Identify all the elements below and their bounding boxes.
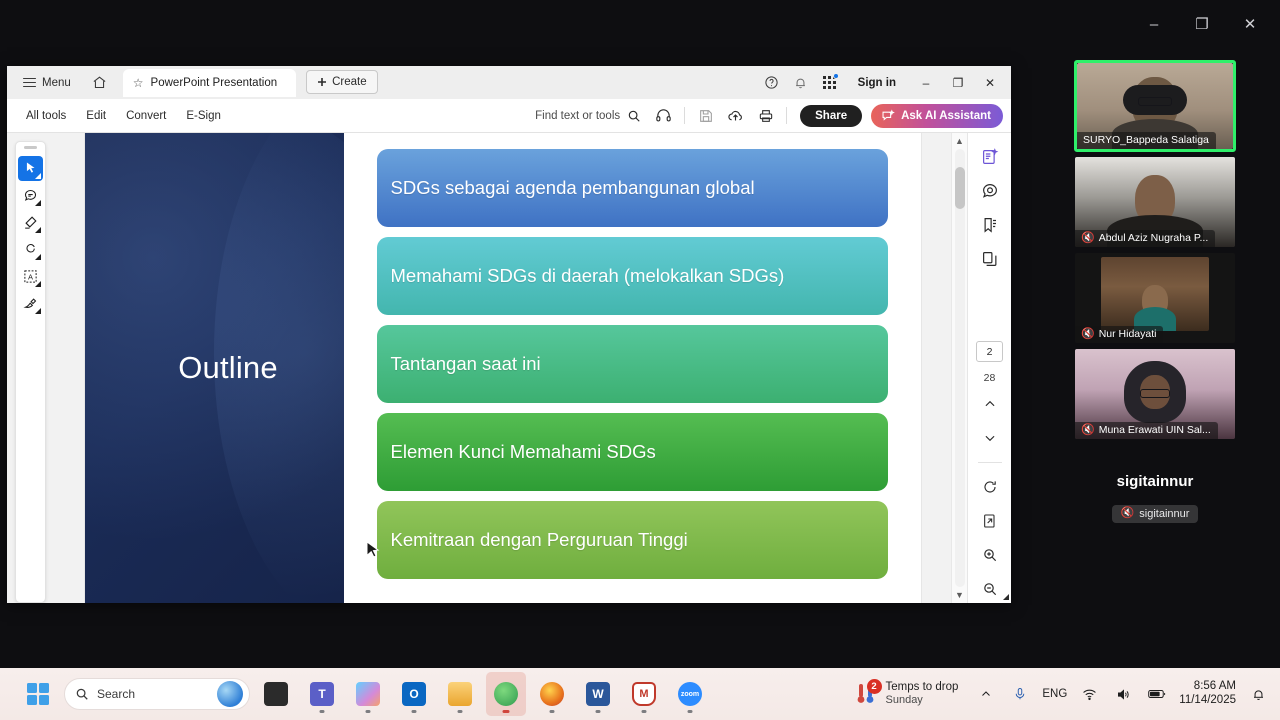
right-tool-rail: 2 28	[967, 133, 1011, 603]
notification-dot	[833, 73, 839, 79]
tab-title: PowerPoint Presentation	[151, 77, 278, 89]
slide-title: Outline	[178, 350, 278, 386]
acrobat-close-button[interactable]: ✕	[975, 66, 1005, 99]
wifi-icon[interactable]	[1077, 687, 1101, 702]
participant-name-chip: SURYO_Bappeda Salatiga	[1077, 132, 1216, 149]
word-icon: W	[586, 682, 610, 706]
firefox-icon	[540, 682, 564, 706]
clock-date: 11/14/2025	[1179, 694, 1236, 708]
participant-tile[interactable]: 🔇 Muna Erawati UIN Sal...	[1075, 349, 1235, 439]
notification-icon[interactable]	[1246, 687, 1270, 702]
participant-tile[interactable]: 🔇 Nur Hidayati	[1075, 253, 1235, 343]
taskbar-app-firefox[interactable]	[532, 672, 572, 716]
outline-item: Elemen Kunci Memahami SDGs	[377, 413, 888, 491]
outline-item-text: Elemen Kunci Memahami SDGs	[391, 440, 656, 464]
create-label: Create	[332, 76, 367, 88]
share-button[interactable]: Share	[800, 105, 862, 127]
page-total-label: 28	[984, 372, 996, 384]
mic-muted-icon: 🔇	[1081, 233, 1095, 244]
acrobat-body: A Outline	[7, 133, 1011, 603]
acrobat-titlebar: Menu ☆ PowerPoint Presentation close-ico…	[7, 66, 1011, 99]
sign-in-button[interactable]: Sign in	[849, 72, 905, 94]
comment-icon[interactable]	[976, 177, 1004, 205]
zoom-close-button[interactable]: ✕	[1228, 8, 1272, 40]
home-icon	[92, 75, 107, 90]
print-icon[interactable]	[752, 102, 779, 129]
read-aloud-icon[interactable]	[650, 102, 677, 129]
running-indicator	[412, 710, 417, 713]
search-icon	[75, 687, 89, 701]
tool-caret-icon	[35, 308, 41, 314]
plus-icon	[317, 77, 327, 87]
notification-badge: 2	[867, 679, 882, 694]
taskbar-app-copilot365[interactable]	[348, 672, 388, 716]
draw-tool[interactable]	[18, 237, 43, 262]
show-hidden-icons-button[interactable]	[974, 688, 998, 700]
participant-name-chip: 🔇 Nur Hidayati	[1075, 326, 1163, 343]
mic-muted-icon: 🔇	[1081, 329, 1095, 340]
search-placeholder: Search	[97, 687, 135, 701]
tab-all-tools[interactable]: All tools	[17, 105, 75, 127]
participant-video: 🔇 Muna Erawati UIN Sal...	[1075, 349, 1235, 439]
taskbar-app-acrobat[interactable]	[486, 672, 526, 716]
outline-item: Tantangan saat ini	[377, 325, 888, 403]
screen: – ❐ ✕ SURYO_Bappeda Salatiga	[0, 0, 1280, 720]
acrobat-window: Menu ☆ PowerPoint Presentation close-ico…	[7, 66, 1011, 603]
windows-start-icon	[23, 679, 54, 710]
participant-name: Abdul Aziz Nugraha P...	[1099, 232, 1209, 244]
system-tray: 2 Temps to drop Sunday ENG	[850, 678, 1271, 710]
caret-icon	[1003, 594, 1009, 600]
copilot-icon[interactable]	[217, 681, 243, 707]
running-indicator	[596, 710, 601, 713]
mic-muted-icon: 🔇	[1121, 508, 1135, 519]
divider	[786, 107, 787, 124]
running-indicator	[550, 710, 555, 713]
search-box[interactable]: Search	[64, 678, 250, 710]
weather-text: Temps to drop Sunday	[886, 681, 959, 707]
mouse-cursor	[366, 541, 380, 561]
self-display-name: sigitainnur	[1030, 473, 1280, 490]
outline-item-text: Memahami SDGs di daerah (melokalkan SDGs…	[391, 264, 785, 288]
select-tool[interactable]	[18, 156, 43, 181]
taskbar-app-maxthon[interactable]: M	[624, 672, 664, 716]
outline-item-text: Tantangan saat ini	[391, 352, 541, 376]
find-label: Find text or tools	[535, 110, 620, 122]
taskbar-app-file-manager[interactable]	[256, 672, 296, 716]
start-button[interactable]	[18, 672, 58, 716]
participant-tile[interactable]: SURYO_Bappeda Salatiga	[1074, 60, 1236, 152]
self-chip-wrap: 🔇 sigitainnur	[1030, 503, 1280, 523]
glasses-icon	[1140, 389, 1170, 398]
self-chip-label: sigitainnur	[1139, 508, 1189, 520]
scrollbar-thumb[interactable]	[955, 167, 965, 209]
tools-rail: A	[7, 133, 54, 603]
weather-subtitle: Sunday	[886, 694, 959, 707]
running-indicator	[320, 710, 325, 713]
outline-item: Kemitraan dengan Perguruan Tinggi	[377, 501, 888, 579]
highlight-tool[interactable]	[18, 210, 43, 235]
file-explorer-icon	[448, 682, 472, 706]
slide-title-panel: Outline	[85, 133, 344, 603]
help-icon[interactable]	[758, 69, 785, 96]
tool-caret-icon	[35, 254, 41, 260]
bookmark-icon[interactable]	[976, 211, 1004, 239]
zoom-minimize-button[interactable]: –	[1132, 8, 1176, 40]
taskbar-app-word[interactable]: W	[578, 672, 618, 716]
titlebar-left: Menu ☆ PowerPoint Presentation close-ico…	[7, 66, 378, 99]
scrollbar-track[interactable]	[955, 149, 965, 587]
slide-page: Outline SDGs sebagai agenda pembangunan …	[85, 133, 921, 603]
scroll-up-icon[interactable]: ▲	[955, 136, 964, 146]
weather-widget[interactable]: 2 Temps to drop Sunday	[850, 678, 965, 710]
menu-label: Menu	[42, 77, 71, 89]
teams-icon: T	[310, 682, 334, 706]
divider	[684, 107, 685, 124]
find-button[interactable]: Find text or tools	[529, 105, 647, 127]
mic-muted-icon: 🔇	[1081, 425, 1095, 436]
zoom-in-icon[interactable]	[976, 541, 1004, 569]
tool-caret-icon	[35, 200, 41, 206]
ai-label: Ask AI Assistant	[901, 110, 991, 122]
running-indicator	[503, 710, 510, 713]
participant-name: SURYO_Bappeda Salatiga	[1083, 134, 1209, 146]
fit-page-icon[interactable]	[976, 507, 1004, 535]
menu-button[interactable]: Menu	[15, 70, 79, 96]
ask-ai-assistant-button[interactable]: Ask AI Assistant	[871, 104, 1003, 128]
tools-card: A	[15, 141, 46, 603]
running-indicator	[458, 710, 463, 713]
windows-taskbar: Search T O	[0, 668, 1280, 720]
clock-time: 8:56 AM	[1179, 680, 1236, 694]
titlebar-right: Sign in – ❐ ✕	[758, 66, 1005, 99]
participant-name-chip: 🔇 Muna Erawati UIN Sal...	[1075, 422, 1218, 439]
outline-item-text: Kemitraan dengan Perguruan Tinggi	[391, 528, 688, 552]
tab-esign[interactable]: E-Sign	[177, 105, 230, 127]
page-number-input[interactable]: 2	[976, 341, 1003, 362]
taskbar-app-zoom[interactable]: zoom	[670, 672, 710, 716]
tab-convert[interactable]: Convert	[117, 105, 175, 127]
tool-caret-icon	[35, 173, 41, 179]
participant-video: SURYO_Bappeda Salatiga	[1077, 63, 1233, 149]
participant-video: 🔇 Nur Hidayati	[1075, 253, 1235, 343]
outlook-icon: O	[402, 682, 426, 706]
document-scrollbar[interactable]: ▲ ▼	[951, 133, 967, 603]
previous-page-button[interactable]	[976, 390, 1004, 418]
bell-icon[interactable]	[787, 69, 814, 96]
stamp-tool[interactable]	[18, 291, 43, 316]
ai-assistant-icon[interactable]	[976, 143, 1004, 171]
home-button[interactable]	[85, 70, 115, 96]
app-switcher-icon[interactable]	[816, 69, 843, 96]
taskbar-app-file-explorer[interactable]	[440, 672, 480, 716]
weather-title: Temps to drop	[886, 681, 959, 694]
running-indicator	[366, 710, 371, 713]
participant-name: Muna Erawati UIN Sal...	[1099, 424, 1211, 436]
tab-edit[interactable]: Edit	[77, 105, 115, 127]
file-manager-icon	[264, 682, 288, 706]
clock[interactable]: 8:56 AM 11/14/2025	[1179, 680, 1236, 708]
copilot-365-icon	[356, 682, 380, 706]
svg-text:A: A	[28, 272, 33, 281]
save-icon[interactable]	[692, 102, 719, 129]
video-frame	[1101, 257, 1209, 331]
hamburger-icon	[23, 78, 36, 88]
participant-name: Nur Hidayati	[1099, 328, 1157, 340]
zoom-restore-button[interactable]: ❐	[1180, 8, 1224, 40]
speaker-icon[interactable]	[1111, 687, 1135, 702]
outline-item-text: SDGs sebagai agenda pembangunan global	[391, 176, 755, 200]
create-button[interactable]: Create	[306, 70, 378, 94]
microphone-icon[interactable]	[1008, 687, 1032, 701]
next-page-button[interactable]	[976, 424, 1004, 452]
glasses-icon	[1138, 97, 1172, 106]
language-indicator[interactable]: ENG	[1042, 688, 1067, 700]
participant-video-panel: SURYO_Bappeda Salatiga 🔇 Abdul Aziz Nugr…	[1030, 60, 1280, 660]
command-tabs: All tools Edit Convert E-Sign	[7, 105, 230, 127]
upload-cloud-icon[interactable]	[722, 102, 749, 129]
acrobat-command-bar: All tools Edit Convert E-Sign Find text …	[7, 99, 1011, 133]
ai-sparkle-icon	[881, 109, 895, 123]
zoom-out-icon[interactable]	[976, 575, 1004, 603]
running-indicator	[688, 710, 693, 713]
rotate-icon[interactable]	[976, 473, 1004, 501]
acrobat-minimize-button[interactable]: –	[911, 66, 941, 99]
zoom-icon: zoom	[678, 682, 702, 706]
scroll-down-icon[interactable]: ▼	[955, 590, 964, 600]
document-tab[interactable]: ☆ PowerPoint Presentation close-icon	[123, 69, 296, 97]
divider	[978, 462, 1002, 463]
participant-tile[interactable]: 🔇 Abdul Aziz Nugraha P...	[1075, 157, 1235, 247]
acrobat-icon	[494, 682, 518, 706]
taskbar-app-teams[interactable]: T	[302, 672, 342, 716]
tool-caret-icon	[35, 227, 41, 233]
star-icon[interactable]: ☆	[133, 76, 144, 90]
acrobat-maximize-button[interactable]: ❐	[943, 66, 973, 99]
running-indicator	[642, 710, 647, 713]
command-bar-right: Find text or tools	[529, 102, 1003, 129]
comment-tool[interactable]	[18, 183, 43, 208]
self-name-chip: 🔇 sigitainnur	[1112, 505, 1199, 523]
zoom-window-controls: – ❐ ✕	[1132, 8, 1272, 40]
taskbar-apps: Search T O	[18, 672, 710, 716]
drag-handle[interactable]	[24, 146, 37, 149]
slide-content-panel: SDGs sebagai agenda pembangunan global M…	[344, 133, 921, 603]
text-select-tool[interactable]: A	[18, 264, 43, 289]
tool-caret-icon	[35, 281, 41, 287]
taskbar-app-outlook[interactable]: O	[394, 672, 434, 716]
battery-icon[interactable]	[1145, 688, 1169, 700]
outline-item: SDGs sebagai agenda pembangunan global	[377, 149, 888, 227]
search-icon	[627, 109, 641, 123]
maxthon-icon: M	[632, 682, 656, 706]
outline-item: Memahami SDGs di daerah (melokalkan SDGs…	[377, 237, 888, 315]
temperature-icon: 2	[856, 681, 878, 707]
document-view[interactable]: Outline SDGs sebagai agenda pembangunan …	[54, 133, 951, 603]
participant-name-chip: 🔇 Abdul Aziz Nugraha P...	[1075, 230, 1215, 247]
participant-video: 🔇 Abdul Aziz Nugraha P...	[1075, 157, 1235, 247]
organize-pages-icon[interactable]	[976, 245, 1004, 273]
